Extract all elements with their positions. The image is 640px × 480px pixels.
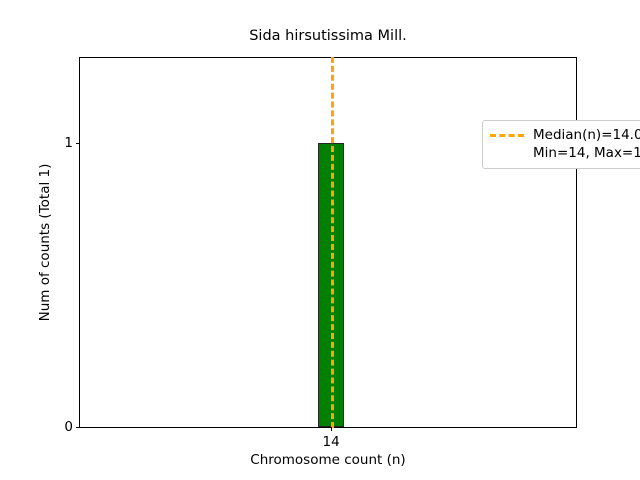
xtick-mark-14 [331,427,332,431]
legend-line-2: Min=14, Max=14 [533,144,640,162]
bars-layer [80,58,576,427]
chart-figure: Sida hirsutissima Mill. 0 1 14 Median(n)… [0,0,640,480]
page-title: Sida hirsutissima Mill. [79,29,577,45]
ytick-label-1: 1 [64,135,73,151]
ytick-label-0: 0 [64,419,73,435]
legend-dash-icon [490,134,524,137]
legend-entry-median: Median(n)=14.0 Min=14, Max=14 [533,126,640,162]
plot-area: 0 1 14 Median(n)=14.0 Min=14, Max=14 [79,57,577,428]
ytick-mark-0 [76,427,80,428]
x-axis-label: Chromosome count (n) [79,452,577,468]
xtick-label-14: 14 [323,434,340,450]
ytick-mark-1 [76,143,80,144]
chart-legend[interactable]: Median(n)=14.0 Min=14, Max=14 [482,120,640,169]
median-line [331,57,334,428]
legend-line-1: Median(n)=14.0 [533,126,640,144]
y-axis-label: Num of counts (Total 1) [34,57,56,428]
